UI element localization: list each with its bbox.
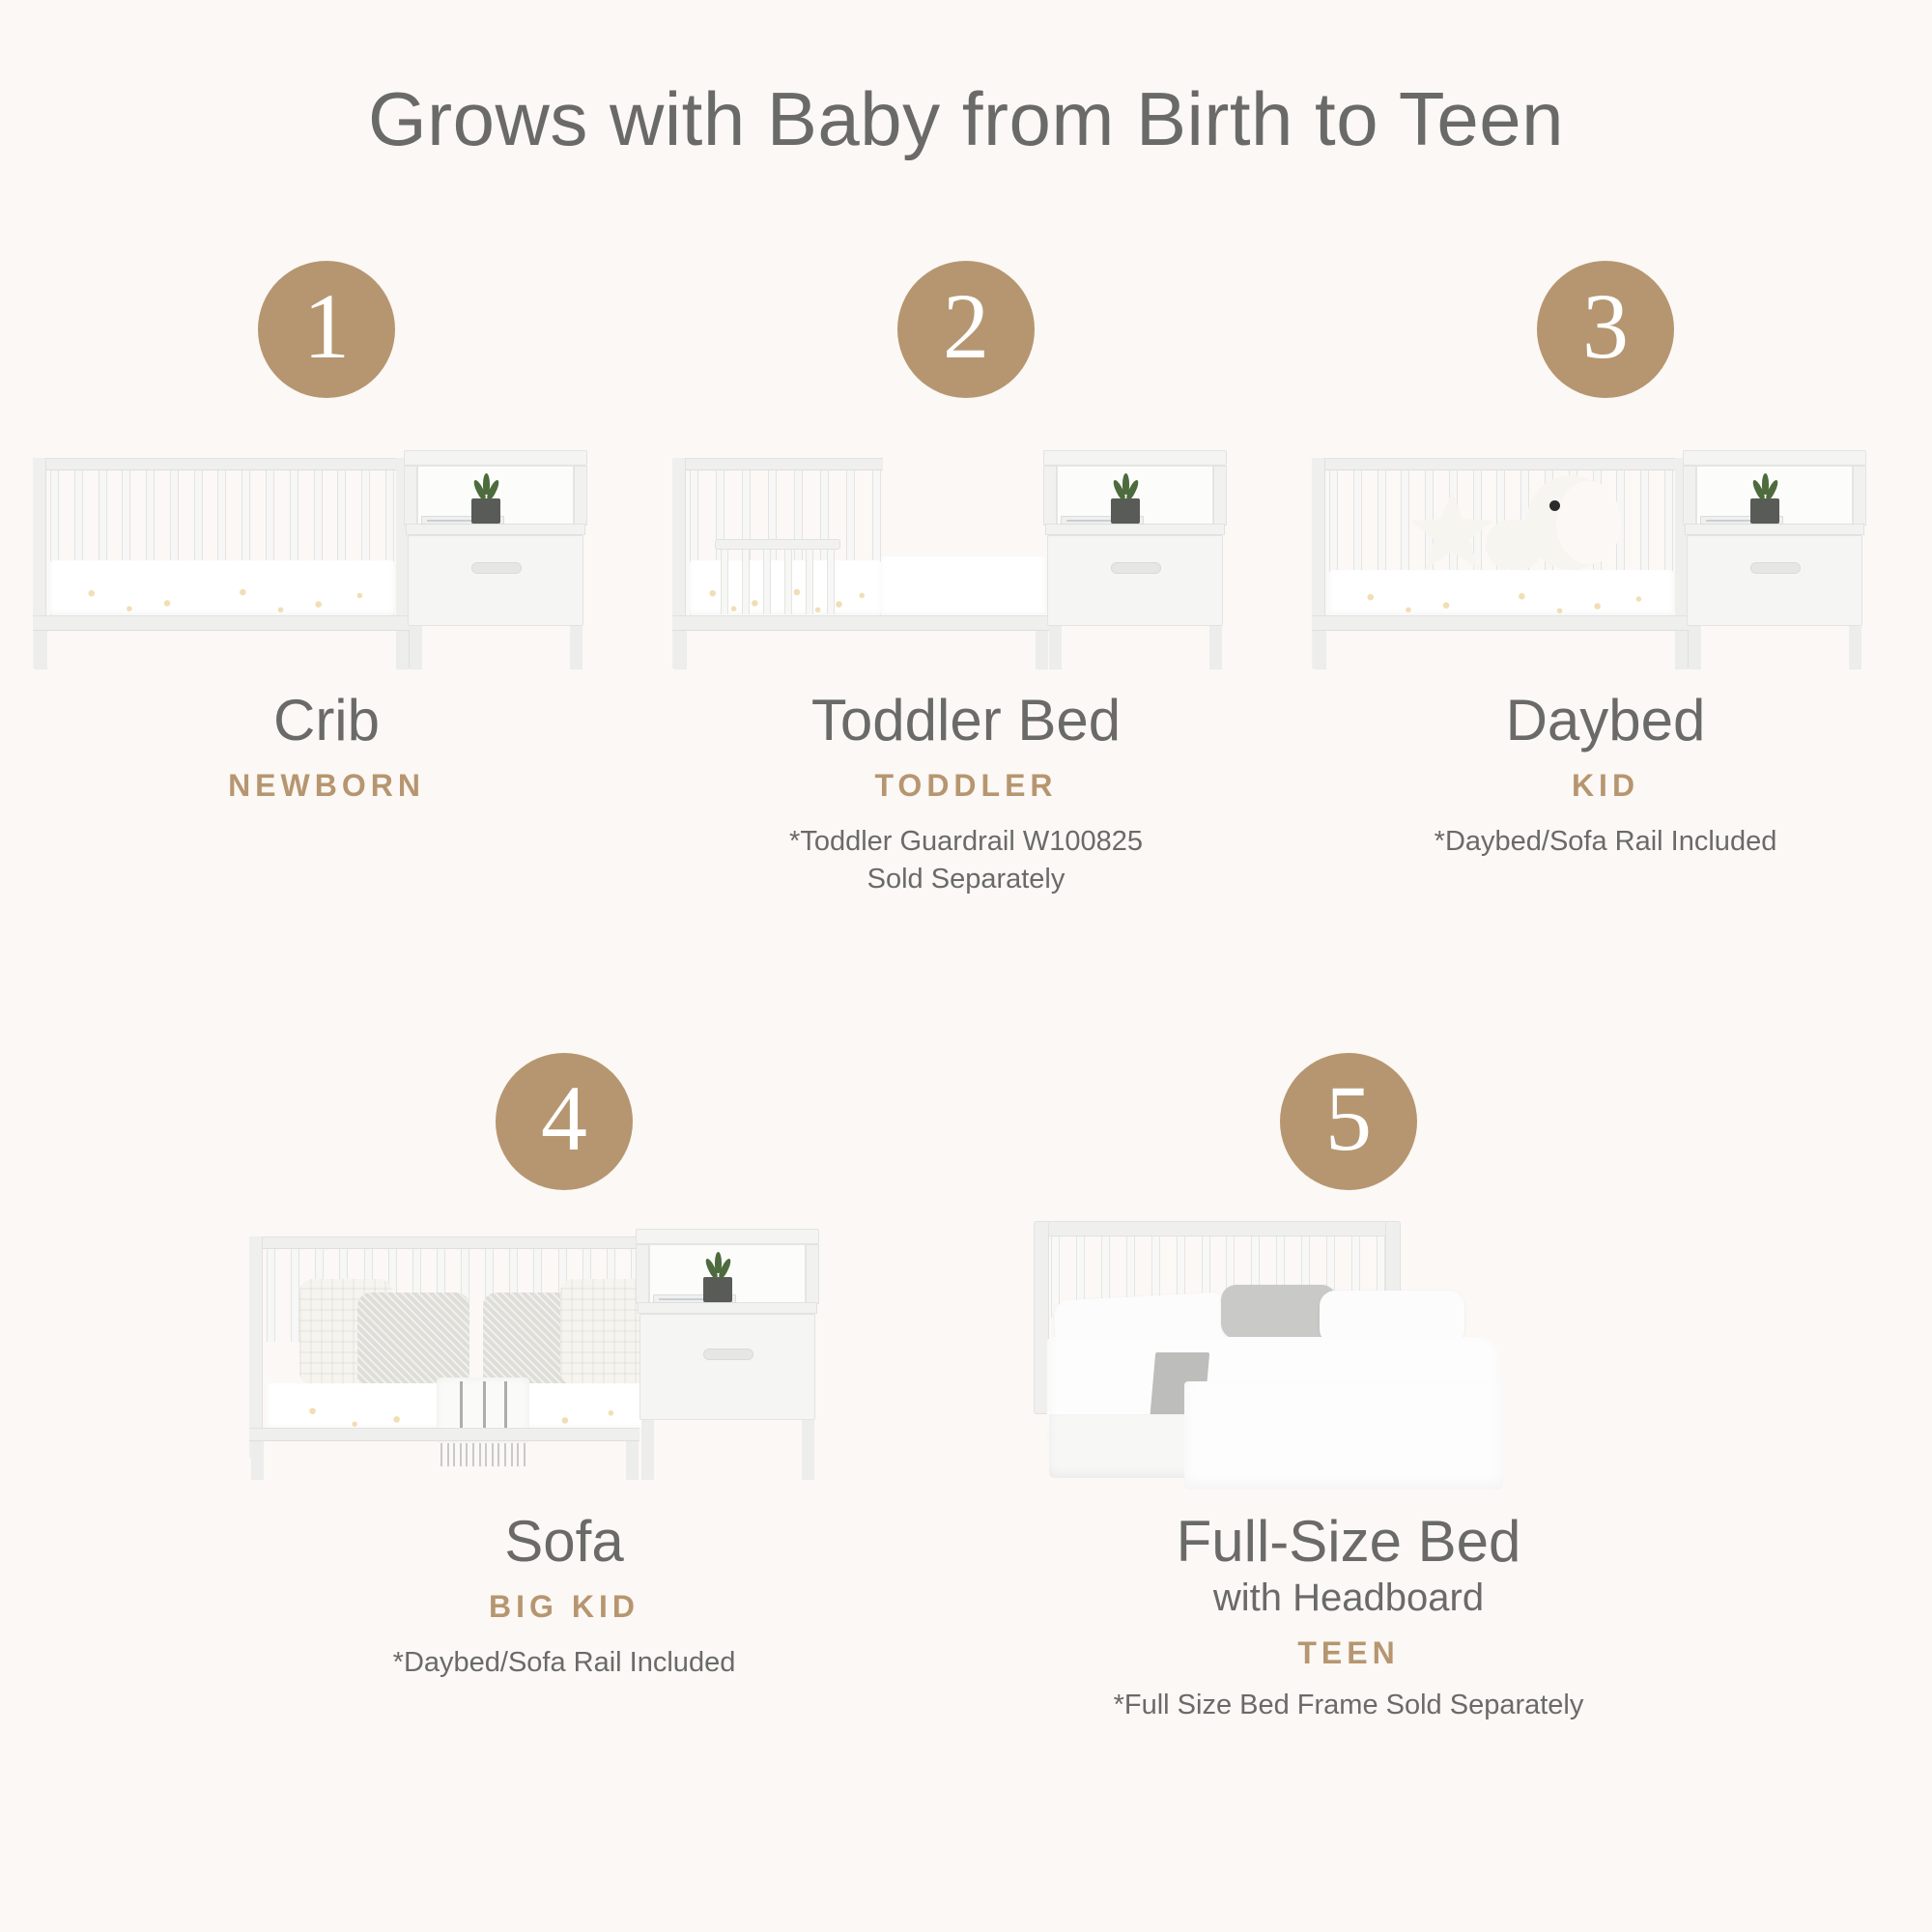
headboard [1034, 1221, 1401, 1236]
stage-card-full-size-bed: 5 Full-Size Bed [991, 1053, 1706, 1724]
stage-name-crib: Crib [17, 690, 636, 753]
stage-caption-toddler-bed: Toddler Bed TODDLER *Toddler Guardrail W… [657, 690, 1275, 898]
stage-age-daybed: KID [1296, 768, 1915, 804]
stage-age-toddler-bed: TODDLER [657, 768, 1275, 804]
stage-name-full-size-bed: Full-Size Bed [991, 1511, 1706, 1574]
daybed-illustration [1296, 415, 1915, 676]
stage-note-line2: Sold Separately [657, 861, 1275, 898]
duvet-drape [1184, 1381, 1503, 1490]
stage-card-crib: 1 [17, 261, 636, 898]
stage-number-badge-4: 4 [496, 1053, 633, 1190]
throw-blanket-fringe [440, 1443, 526, 1466]
stage-number-badge-3: 3 [1537, 261, 1674, 398]
stage-caption-sofa: Sofa BIG KID *Daybed/Sofa Rail Included [226, 1511, 902, 1682]
stage-note-toddler-bed: *Toddler Guardrail W100825 Sold Separate… [657, 823, 1275, 898]
stage-row-bottom: 4 [0, 1053, 1932, 1724]
stage-card-sofa: 4 [226, 1053, 902, 1724]
stage-card-toddler-bed: 2 [657, 261, 1275, 898]
stage-caption-daybed: Daybed KID *Daybed/Sofa Rail Included [1296, 690, 1915, 861]
stage-note-line1: *Toddler Guardrail W100825 [657, 823, 1275, 861]
page-title: Grows with Baby from Birth to Teen [0, 75, 1932, 163]
stage-name-daybed: Daybed [1296, 690, 1915, 753]
stage-note-sofa: *Daybed/Sofa Rail Included [226, 1644, 902, 1682]
stage-number-badge-2: 2 [897, 261, 1035, 398]
stage-row-top: 1 [0, 261, 1932, 898]
stage-note-full-size-bed: *Full Size Bed Frame Sold Separately [991, 1687, 1706, 1724]
stage-note-daybed: *Daybed/Sofa Rail Included [1296, 823, 1915, 861]
stage-subtitle-full-size-bed: with Headboard [991, 1576, 1706, 1620]
moon-pillow-eye [1549, 500, 1560, 511]
stage-age-crib: NEWBORN [17, 768, 636, 804]
stage-caption-crib: Crib NEWBORN [17, 690, 636, 804]
stage-number-badge-5: 5 [1280, 1053, 1417, 1190]
infographic-page: Grows with Baby from Birth to Teen 1 [0, 0, 1932, 1932]
stage-card-daybed: 3 [1296, 261, 1915, 898]
stage-name-sofa: Sofa [226, 1511, 902, 1574]
sofa-illustration [226, 1207, 902, 1497]
stage-name-toddler-bed: Toddler Bed [657, 690, 1275, 753]
full-size-bed-illustration [991, 1207, 1706, 1497]
crib-illustration [17, 415, 636, 676]
stage-number-badge-1: 1 [258, 261, 395, 398]
stage-age-sofa: BIG KID [226, 1589, 902, 1625]
toddler-bed-illustration [657, 415, 1275, 676]
stage-caption-full-size-bed: Full-Size Bed with Headboard TEEN *Full … [991, 1511, 1706, 1724]
throw-pillow-gray-left [357, 1293, 469, 1389]
stage-age-full-size-bed: TEEN [991, 1635, 1706, 1671]
toddler-guardrail [715, 539, 840, 614]
moon-pillow [1526, 475, 1615, 570]
